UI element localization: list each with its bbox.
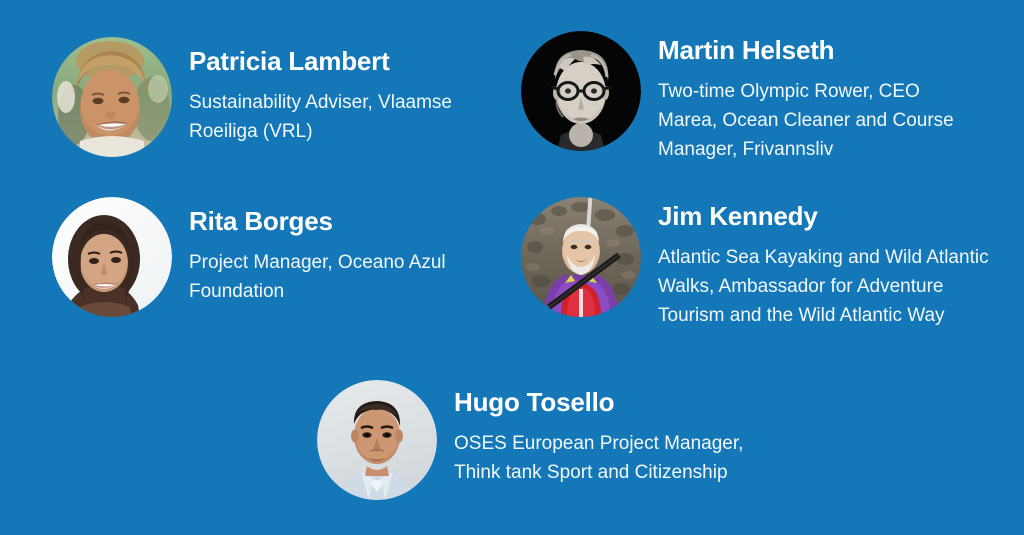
speaker-name: Patricia Lambert xyxy=(189,46,452,76)
speaker-info: Rita Borges Project Manager, Oceano Azul… xyxy=(189,197,446,306)
speaker-card-martin-helseth: Martin Helseth Two-time Olympic Rower, C… xyxy=(521,31,954,164)
speaker-role: Project Manager, Oceano Azul Foundation xyxy=(189,248,446,306)
avatar-jim-kennedy xyxy=(521,197,641,317)
speaker-card-rita-borges: Rita Borges Project Manager, Oceano Azul… xyxy=(52,197,446,317)
speaker-role: Atlantic Sea Kayaking and Wild Atlantic … xyxy=(658,243,989,330)
speaker-name: Jim Kennedy xyxy=(658,201,989,231)
speaker-card-hugo-tosello: Hugo Tosello OSES European Project Manag… xyxy=(317,380,743,500)
speaker-card-jim-kennedy: Jim Kennedy Atlantic Sea Kayaking and Wi… xyxy=(521,197,989,330)
speakers-panel: Patricia Lambert Sustainability Adviser,… xyxy=(0,0,1024,535)
avatar-rita-borges xyxy=(52,197,172,317)
avatar-hugo-tosello xyxy=(317,380,437,500)
speaker-name: Rita Borges xyxy=(189,206,446,236)
speaker-name: Hugo Tosello xyxy=(454,387,743,417)
speaker-role: Sustainability Adviser, Vlaamse Roeiliga… xyxy=(189,88,452,146)
avatar-patricia-lambert xyxy=(52,37,172,157)
speaker-role: Two-time Olympic Rower, CEO Marea, Ocean… xyxy=(658,77,954,164)
speaker-info: Hugo Tosello OSES European Project Manag… xyxy=(454,380,743,487)
speaker-name: Martin Helseth xyxy=(658,35,954,65)
speaker-info: Jim Kennedy Atlantic Sea Kayaking and Wi… xyxy=(658,197,989,330)
speaker-role: OSES European Project Manager, Think tan… xyxy=(454,429,743,487)
avatar-martin-helseth xyxy=(521,31,641,151)
speaker-card-patricia-lambert: Patricia Lambert Sustainability Adviser,… xyxy=(52,37,452,157)
speaker-info: Patricia Lambert Sustainability Adviser,… xyxy=(189,37,452,146)
speaker-info: Martin Helseth Two-time Olympic Rower, C… xyxy=(658,31,954,164)
